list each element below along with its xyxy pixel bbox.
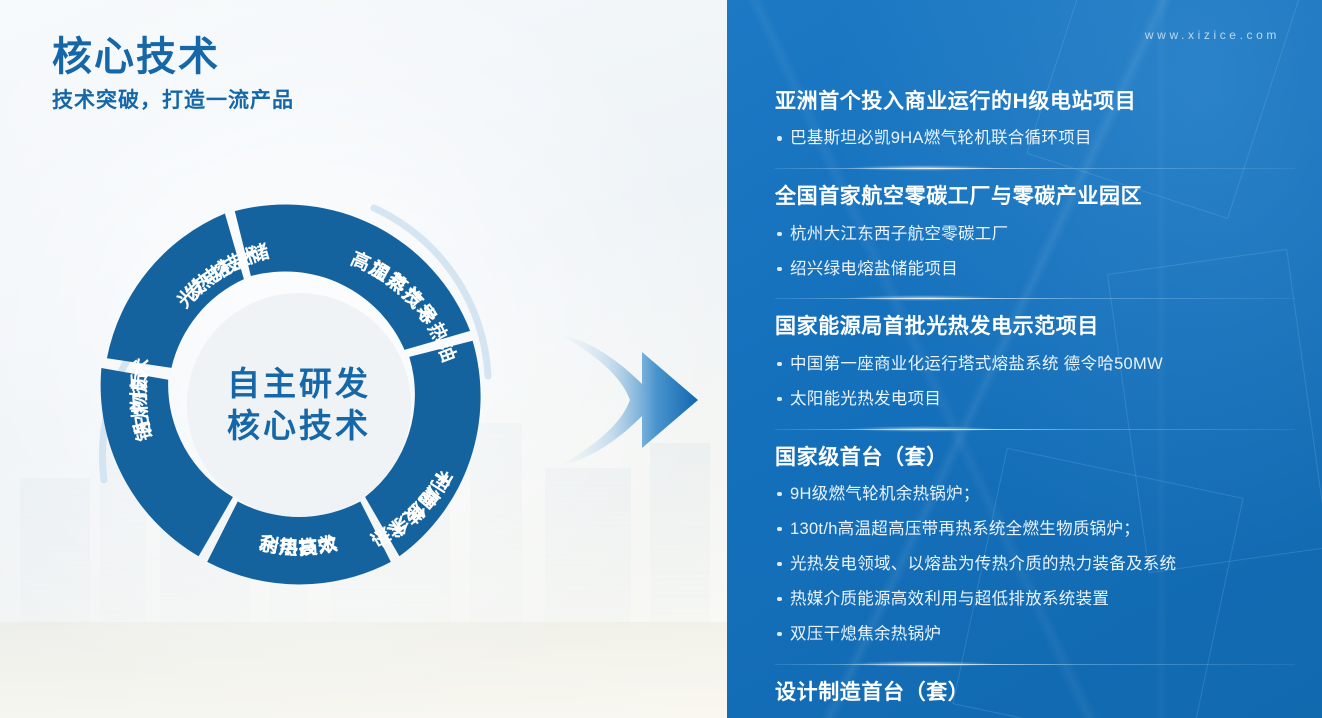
core-technology-donut: 光热熔盐储热 发电技术 高温蒸汽导热油 加热技术 干熄焦余热 [74, 180, 524, 630]
section-design-manufacture-first-set: 设计制造首台（套） 国内首台超高压带再热垃圾焚烧余热锅炉 [775, 679, 1295, 718]
section-divider [775, 664, 1295, 665]
bullet-item: 绍兴绿电熔盐储能项目 [775, 258, 1295, 282]
section-divider [775, 429, 1295, 430]
bullet-item: 双压干熄焦余热锅炉 [775, 623, 1295, 647]
bullet-item: 130t/h高温超高压带再热系统全燃生物质锅炉； [775, 518, 1295, 542]
site-url[interactable]: www.xizice.com [1145, 28, 1280, 42]
page-subtitle: 技术突破，打造一流产品 [52, 84, 294, 114]
section-heading: 亚洲首个投入商业运行的H级电站项目 [775, 88, 1295, 116]
section-zero-carbon-factory: 全国首家航空零碳工厂与零碳产业园区 杭州大江东西子航空零碳工厂 绍兴绿电熔盐储能… [775, 183, 1295, 281]
achievements-list: 亚洲首个投入商业运行的H级电站项目 巴基斯坦必凯9HA燃气轮机联合循环项目 全国… [775, 88, 1295, 718]
section-bullets: 杭州大江东西子航空零碳工厂 绍兴绿电熔盐储能项目 [775, 223, 1295, 282]
section-bullets: 9H级燃气轮机余热锅炉； 130t/h高温超高压带再热系统全燃生物质锅炉； 光热… [775, 483, 1295, 647]
section-divider [775, 298, 1295, 299]
page-title: 核心技术 [52, 24, 220, 82]
bullet-item: 9H级燃气轮机余热锅炉； [775, 483, 1295, 507]
section-csp-demo: 国家能源局首批光热发电示范项目 中国第一座商业化运行塔式熔盐系统 德令哈50MW… [775, 313, 1295, 411]
bullet-item: 巴基斯坦必凯9HA燃气轮机联合循环项目 [775, 127, 1295, 151]
section-bullets: 巴基斯坦必凯9HA燃气轮机联合循环项目 [775, 127, 1295, 151]
section-asia-h-class: 亚洲首个投入商业运行的H级电站项目 巴基斯坦必凯9HA燃气轮机联合循环项目 [775, 88, 1295, 151]
donut-svg: 光热熔盐储热 发电技术 高温蒸汽导热油 加热技术 干熄焦余热 [74, 180, 524, 630]
bullet-item: 光热发电领域、以熔盐为传热介质的热力装备及系统 [775, 553, 1295, 577]
section-heading: 国家能源局首批光热发电示范项目 [775, 313, 1295, 341]
donut-center-hub [187, 293, 411, 517]
bullet-item: 杭州大江东西子航空零碳工厂 [775, 223, 1295, 247]
flow-arrow-svg [560, 330, 720, 470]
section-bullets: 中国第一座商业化运行塔式熔盐系统 德令哈50MW 太阳能光热发电项目 [775, 353, 1295, 412]
arrow-shape [560, 334, 698, 466]
flow-arrow [560, 330, 720, 470]
donut-center-line2: 核心技术 [227, 407, 371, 444]
bullet-item: 中国第一座商业化运行塔式熔盐系统 德令哈50MW [775, 353, 1295, 377]
section-national-first-set: 国家级首台（套） 9H级燃气轮机余热锅炉； 130t/h高温超高压带再热系统全燃… [775, 444, 1295, 647]
bullet-item: 热媒介质能源高效利用与超低排放系统装置 [775, 588, 1295, 612]
left-panel: 核心技术 技术突破，打造一流产品 [0, 0, 727, 718]
section-heading: 设计制造首台（套） [775, 679, 1295, 707]
bullet-item: 太阳能光热发电项目 [775, 388, 1295, 412]
section-heading: 国家级首台（套） [775, 444, 1295, 472]
section-heading: 全国首家航空零碳工厂与零碳产业园区 [775, 183, 1295, 211]
donut-center-line1: 自主研发 [227, 365, 371, 402]
section-divider [775, 168, 1295, 169]
slide-canvas: 核心技术 技术突破，打造一流产品 [0, 0, 1322, 718]
right-panel: www.xizice.com 亚洲首个投入商业运行的H级电站项目 巴基斯坦必凯9… [727, 0, 1322, 718]
